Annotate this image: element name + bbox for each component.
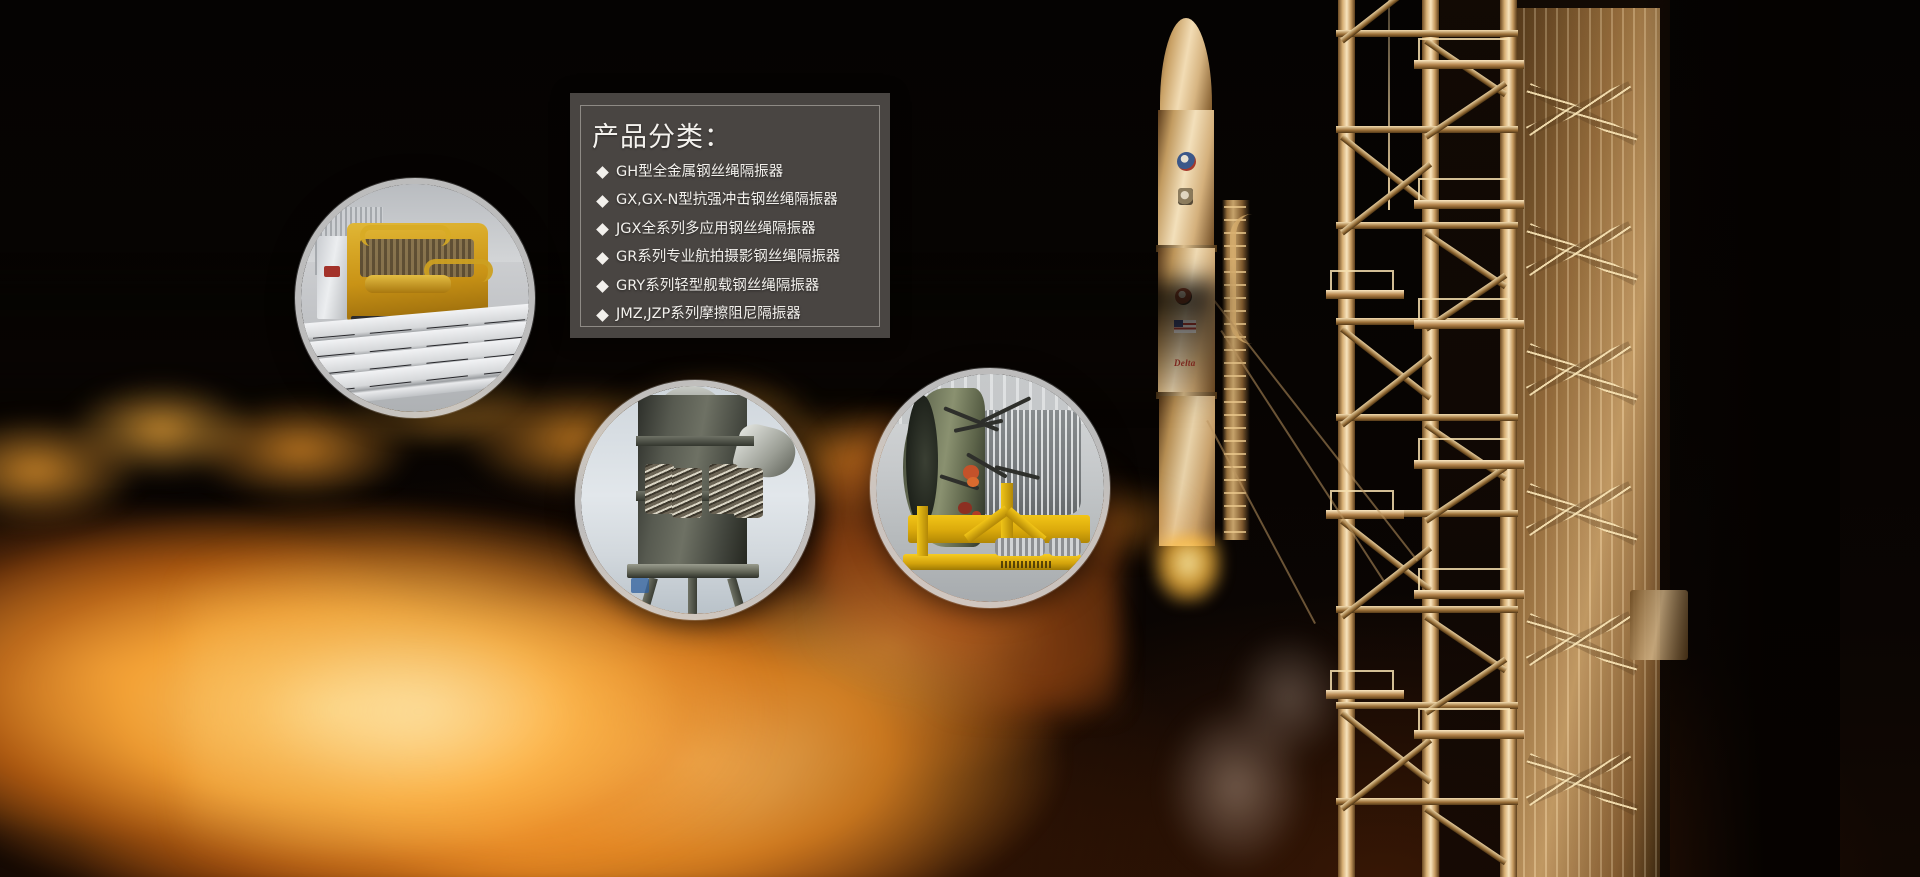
tower-railing xyxy=(1418,38,1510,60)
umbilical-rung xyxy=(1224,453,1246,455)
product-category-item[interactable]: GRY系列轻型舰载钢丝绳隔振器 xyxy=(598,279,874,295)
umbilical-rung xyxy=(1224,401,1246,403)
umbilical-rung xyxy=(1224,388,1246,390)
generator-red-valve xyxy=(324,266,340,277)
generator-oil-cylinder xyxy=(365,275,452,293)
tower-platform xyxy=(1414,200,1524,209)
product-category-item[interactable]: JGX全系列多应用钢丝绳隔振器 xyxy=(598,222,874,238)
isolator-support-leg xyxy=(688,578,697,614)
wire-rope-coil xyxy=(645,464,675,514)
tower-platform xyxy=(1414,60,1524,69)
isolator-cross-beam xyxy=(636,436,755,446)
tower-platform xyxy=(1414,590,1524,599)
cart-wire-rope-spring xyxy=(1049,538,1081,556)
tower-railing xyxy=(1418,178,1510,200)
engine-accessory xyxy=(958,502,972,514)
product-category-label: GR系列专业航拍摄影钢丝绳隔振器 xyxy=(616,250,840,266)
product-category-list: GH型全金属钢丝绳隔振器GX,GX-N型抗强冲击钢丝绳隔振器JGX全系列多应用钢… xyxy=(598,165,874,336)
photo-aircraft-jet-engine xyxy=(870,368,1110,608)
tower-railing xyxy=(1418,568,1510,590)
tower-shadow-overlay xyxy=(1640,0,1840,877)
tower-steam-cloud xyxy=(1140,577,1380,877)
diamond-bullet-icon xyxy=(596,280,609,293)
umbilical-rung xyxy=(1224,440,1246,442)
nasa-insignia-icon xyxy=(1177,152,1196,171)
umbilical-rung xyxy=(1224,466,1246,468)
tower-railing xyxy=(1330,490,1394,510)
launch-service-tower xyxy=(1330,0,1780,877)
engine-accessory xyxy=(967,477,978,487)
generator-exhaust-pipe xyxy=(360,225,451,246)
tower-platform xyxy=(1414,460,1524,469)
product-category-item[interactable]: GH型全金属钢丝绳隔振器 xyxy=(598,165,874,181)
umbilical-rung xyxy=(1224,479,1246,481)
mission-patch-icon xyxy=(1178,188,1193,205)
diamond-bullet-icon xyxy=(596,195,609,208)
rocket-upper-stage xyxy=(1158,110,1214,250)
banner-stage: Delta xyxy=(0,0,1920,877)
umbilical-rung xyxy=(1224,375,1246,377)
tower-platform xyxy=(1414,730,1524,739)
diamond-bullet-icon xyxy=(596,252,609,265)
isolator-blue-part xyxy=(631,578,649,594)
wire-rope-coil xyxy=(734,468,764,518)
tower-cladding-panel xyxy=(1512,8,1660,877)
product-category-label: JMZ,JZP系列摩擦阻尼隔振器 xyxy=(616,307,801,323)
diamond-bullet-icon xyxy=(596,223,609,236)
rocket-nosecone xyxy=(1160,18,1212,118)
umbilical-rung xyxy=(1224,414,1246,416)
tower-platform xyxy=(1414,320,1524,329)
umbilical-rung xyxy=(1224,492,1246,494)
generator-skid-clamp xyxy=(313,388,354,394)
umbilical-rung xyxy=(1224,518,1246,520)
generator-skid-clamp xyxy=(370,382,411,388)
cart-upright-post xyxy=(917,506,928,556)
umbilical-rung xyxy=(1224,505,1246,507)
product-category-label: GX,GX-N型抗强冲击钢丝绳隔振器 xyxy=(616,193,838,209)
generator-skid-clamp xyxy=(427,376,468,382)
tower-railing xyxy=(1330,270,1394,290)
product-category-label: JGX全系列多应用钢丝绳隔振器 xyxy=(616,222,815,238)
generator-skid-clamp xyxy=(484,370,525,376)
transport-cart-base xyxy=(903,554,1081,570)
cart-label-text xyxy=(1001,561,1051,568)
umbilical-rung xyxy=(1224,531,1246,533)
product-category-item[interactable]: GR系列专业航拍摄影钢丝绳隔振器 xyxy=(598,250,874,266)
cart-wire-rope-spring xyxy=(995,538,1045,556)
generator-control-box xyxy=(317,236,349,318)
product-category-panel: 产品分类： GH型全金属钢丝绳隔振器GX,GX-N型抗强冲击钢丝绳隔振器JGX全… xyxy=(570,93,890,338)
photo-wire-rope-isolator-mount xyxy=(575,380,815,620)
tower-railing xyxy=(1418,708,1510,730)
product-category-item[interactable]: GX,GX-N型抗强冲击钢丝绳隔振器 xyxy=(598,193,874,209)
umbilical-rung xyxy=(1224,427,1246,429)
product-category-item[interactable]: JMZ,JZP系列摩擦阻尼隔振器 xyxy=(598,307,874,323)
tower-girder xyxy=(1336,414,1518,421)
panel-title: 产品分类： xyxy=(592,115,732,154)
tower-railing xyxy=(1418,438,1510,460)
diamond-bullet-icon xyxy=(596,167,609,180)
wire-rope-coil xyxy=(672,468,702,518)
tower-girder xyxy=(1336,222,1518,229)
product-category-label: GH型全金属钢丝绳隔振器 xyxy=(616,165,783,181)
diamond-bullet-icon xyxy=(596,309,609,322)
tower-railing xyxy=(1418,298,1510,320)
product-category-label: GRY系列轻型舰载钢丝绳隔振器 xyxy=(616,279,819,295)
tower-platform xyxy=(1326,290,1404,299)
photo-diesel-generator xyxy=(295,178,535,418)
tower-girder xyxy=(1336,30,1518,37)
isolator-base-frame xyxy=(627,564,759,578)
umbilical-rung xyxy=(1224,206,1246,208)
